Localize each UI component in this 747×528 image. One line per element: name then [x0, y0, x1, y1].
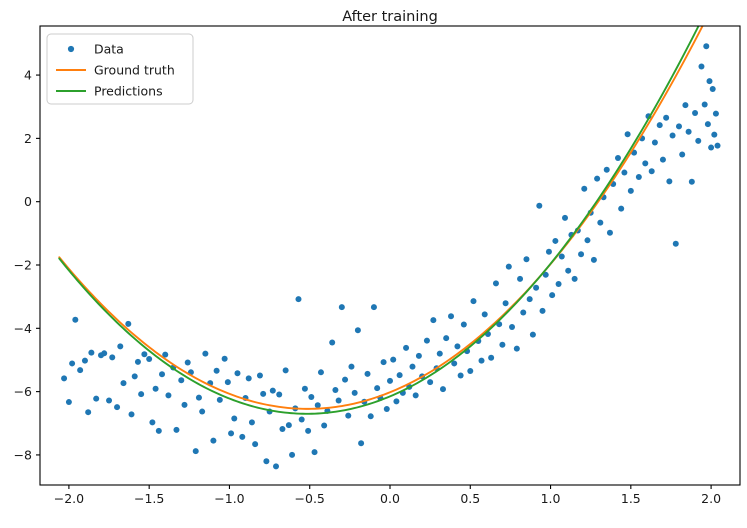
data-point [117, 343, 123, 349]
data-point [711, 132, 717, 138]
y-tick-label: 0 [24, 194, 32, 209]
data-point [61, 375, 67, 381]
data-point [676, 123, 682, 129]
plot-area: −2.0−1.5−1.0−0.50.00.51.01.52.0420−2−4−6… [14, 0, 740, 506]
data-point [185, 359, 191, 365]
data-point [345, 413, 351, 419]
data-point [649, 168, 655, 174]
data-point [467, 368, 473, 374]
legend-marker-data [68, 46, 74, 52]
data-point [536, 203, 542, 209]
data-point [642, 160, 648, 166]
data-point [69, 360, 75, 366]
data-point [263, 458, 269, 464]
data-point [371, 304, 377, 310]
data-point [403, 345, 409, 351]
chart-plot: After training −2.0−1.5−1.0−0.50.00.51.0… [0, 0, 747, 528]
legend-label-data: Data [94, 42, 124, 57]
chart-title: After training [342, 9, 438, 25]
data-point [93, 396, 99, 402]
data-point [225, 379, 231, 385]
data-point [332, 387, 338, 393]
data-point [470, 298, 476, 304]
data-point [286, 422, 292, 428]
data-point [628, 188, 634, 194]
data-point [679, 152, 685, 158]
data-point [517, 276, 523, 282]
data-point [358, 440, 364, 446]
x-tick-label: 2.0 [701, 491, 721, 506]
data-point [222, 356, 228, 362]
data-point [315, 402, 321, 408]
data-point [214, 368, 220, 374]
x-tick-label: −1.5 [134, 491, 164, 506]
x-tick-label: −1.0 [214, 491, 244, 506]
data-point [165, 392, 171, 398]
data-point [597, 220, 603, 226]
data-point [660, 157, 666, 163]
data-point [443, 335, 449, 341]
data-point [409, 364, 415, 370]
data-point [381, 359, 387, 365]
data-point [705, 121, 711, 127]
data-point [283, 367, 289, 373]
data-point [88, 350, 94, 356]
data-point [657, 122, 663, 128]
data-point [565, 268, 571, 274]
data-point [604, 167, 610, 173]
data-point [482, 311, 488, 317]
data-point [618, 206, 624, 212]
data-point [710, 86, 716, 92]
data-point [461, 322, 467, 328]
data-point [520, 309, 526, 315]
data-point [239, 434, 245, 440]
data-point [193, 448, 199, 454]
data-point [682, 102, 688, 108]
data-point [523, 256, 529, 262]
data-point [77, 367, 83, 373]
data-point [234, 370, 240, 376]
data-point [101, 350, 107, 356]
data-point [217, 397, 223, 403]
y-tick-label: −4 [14, 321, 32, 336]
data-point [581, 186, 587, 192]
data-point [615, 155, 621, 161]
data-point [437, 351, 443, 357]
data-point [549, 292, 555, 298]
data-point [488, 355, 494, 361]
y-tick-label: 4 [24, 68, 32, 83]
data-point [252, 441, 258, 447]
data-point [368, 413, 374, 419]
data-point [342, 377, 348, 383]
data-point [458, 372, 464, 378]
data-point [339, 304, 345, 310]
data-point [199, 409, 205, 415]
data-point [666, 178, 672, 184]
data-point [159, 371, 165, 377]
legend-label-ground-truth: Ground truth [94, 63, 175, 78]
x-tick-label: −0.5 [295, 491, 325, 506]
data-point [305, 428, 311, 434]
data-point [66, 399, 72, 405]
data-point [125, 321, 131, 327]
data-point [663, 115, 669, 121]
data-point [138, 391, 144, 397]
data-point [129, 411, 135, 417]
data-point [695, 138, 701, 144]
data-point [106, 397, 112, 403]
data-point [270, 388, 276, 394]
data-point [594, 176, 600, 182]
data-point [625, 131, 631, 137]
data-point [387, 378, 393, 384]
data-point [146, 356, 152, 362]
data-point [321, 422, 327, 428]
data-point [509, 324, 515, 330]
data-point [430, 317, 436, 323]
x-tick-label: −2.0 [54, 491, 84, 506]
y-tick-label: −8 [14, 447, 32, 462]
data-point [182, 402, 188, 408]
data-point [210, 438, 216, 444]
data-point [572, 276, 578, 282]
data-point [715, 143, 721, 149]
data-point [416, 353, 422, 359]
data-point [384, 406, 390, 412]
data-point [607, 230, 613, 236]
data-point [454, 343, 460, 349]
data-point [114, 404, 120, 410]
y-tick-label: −2 [14, 257, 32, 272]
y-tick-label: −6 [14, 384, 32, 399]
data-point [393, 398, 399, 404]
data-point [530, 332, 536, 338]
data-point [493, 280, 499, 286]
x-tick-label: 1.5 [621, 491, 641, 506]
data-point [329, 340, 335, 346]
data-point [202, 351, 208, 357]
data-point [196, 395, 202, 401]
y-tick-label: 2 [24, 131, 32, 146]
data-point [698, 64, 704, 70]
data-point [289, 452, 295, 458]
data-point [546, 249, 552, 255]
data-point [273, 463, 279, 469]
data-point [295, 296, 301, 302]
data-point [552, 238, 558, 244]
data-point [82, 358, 88, 364]
x-tick-label: 1.0 [541, 491, 561, 506]
data-point [702, 102, 708, 108]
data-point [448, 313, 454, 319]
data-point [135, 359, 141, 365]
data-point [276, 391, 282, 397]
x-tick-label: 0.0 [380, 491, 400, 506]
data-point [503, 300, 509, 306]
data-point [479, 358, 485, 364]
data-point [673, 241, 679, 247]
figure-canvas: After training −2.0−1.5−1.0−0.50.00.51.0… [0, 0, 747, 528]
data-point [708, 145, 714, 151]
data-point [302, 386, 308, 392]
data-point [397, 372, 403, 378]
data-point [670, 133, 676, 139]
scatter-series-data [61, 43, 720, 469]
data-point [352, 390, 358, 396]
data-point [249, 419, 255, 425]
data-point [132, 373, 138, 379]
data-point [514, 346, 520, 352]
data-point [299, 416, 305, 422]
data-point [506, 264, 512, 270]
data-point [156, 428, 162, 434]
data-point [703, 43, 709, 49]
data-point [652, 139, 658, 145]
data-point [591, 257, 597, 263]
data-point [578, 251, 584, 257]
chart-legend[interactable]: DataGround truthPredictions [47, 34, 193, 104]
data-point [636, 174, 642, 180]
data-point [689, 179, 695, 185]
data-point [390, 357, 396, 363]
data-point [308, 394, 314, 400]
legend-label-predictions: Predictions [94, 84, 163, 99]
data-point [279, 426, 285, 432]
data-point [440, 386, 446, 392]
data-point [584, 237, 590, 243]
data-point [556, 281, 562, 287]
data-point [686, 129, 692, 135]
data-point [540, 308, 546, 314]
data-point [713, 111, 719, 117]
data-point [178, 377, 184, 383]
data-point [499, 342, 505, 348]
x-tick-label: 0.5 [460, 491, 480, 506]
data-point [562, 215, 568, 221]
data-point [348, 364, 354, 370]
data-point [312, 449, 318, 455]
data-point [355, 327, 361, 333]
data-point [149, 419, 155, 425]
data-point [621, 170, 627, 176]
data-point [120, 380, 126, 386]
data-point [72, 317, 78, 323]
data-point [257, 372, 263, 378]
data-point [533, 285, 539, 291]
data-point [318, 369, 324, 375]
data-point [692, 110, 698, 116]
data-point [336, 397, 342, 403]
data-point [231, 416, 237, 422]
data-point [246, 375, 252, 381]
data-point [365, 371, 371, 377]
data-point [141, 351, 147, 357]
data-point [707, 78, 713, 84]
data-point [260, 391, 266, 397]
data-point [153, 386, 159, 392]
data-point [173, 427, 179, 433]
data-point [427, 379, 433, 385]
data-point [228, 430, 234, 436]
data-point [85, 409, 91, 415]
data-point [527, 296, 533, 302]
tick-labels-layer: −2.0−1.5−1.0−0.50.00.51.01.52.0420−2−4−6… [14, 68, 722, 506]
data-point [424, 338, 430, 344]
data-point [109, 354, 115, 360]
data-point [413, 392, 419, 398]
data-point [374, 385, 380, 391]
